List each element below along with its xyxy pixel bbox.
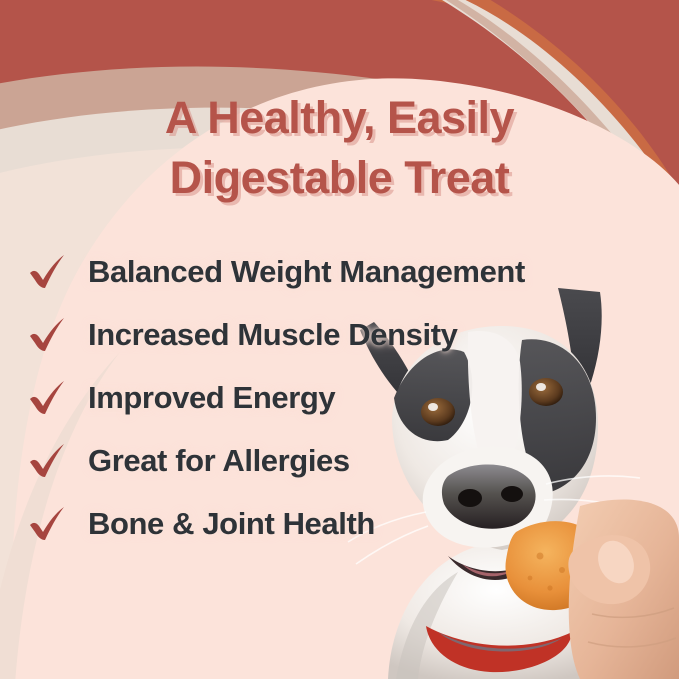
list-item: Improved Energy xyxy=(0,366,679,429)
list-item-label: Increased Muscle Density xyxy=(88,317,457,353)
list-item: Increased Muscle Density xyxy=(0,303,679,366)
list-item: Great for Allergies xyxy=(0,429,679,492)
list-item: Bone & Joint Health xyxy=(0,492,679,555)
check-icon xyxy=(24,375,70,421)
list-item-label: Improved Energy xyxy=(88,380,335,416)
infographic-canvas: A Healthy, Easily Digestable Treat Balan… xyxy=(0,0,679,679)
check-icon xyxy=(24,249,70,295)
list-item: Balanced Weight Management xyxy=(0,240,679,303)
check-icon xyxy=(24,312,70,358)
check-icon xyxy=(24,501,70,547)
page-title: A Healthy, Easily Digestable Treat xyxy=(0,88,679,208)
check-icon xyxy=(24,438,70,484)
title-line-1: A Healthy, Easily xyxy=(0,88,679,148)
list-item-label: Balanced Weight Management xyxy=(88,254,525,290)
list-item-label: Great for Allergies xyxy=(88,443,350,479)
list-item-label: Bone & Joint Health xyxy=(88,506,375,542)
title-line-2: Digestable Treat xyxy=(0,148,679,208)
benefits-list: Balanced Weight Management Increased Mus… xyxy=(0,240,679,555)
